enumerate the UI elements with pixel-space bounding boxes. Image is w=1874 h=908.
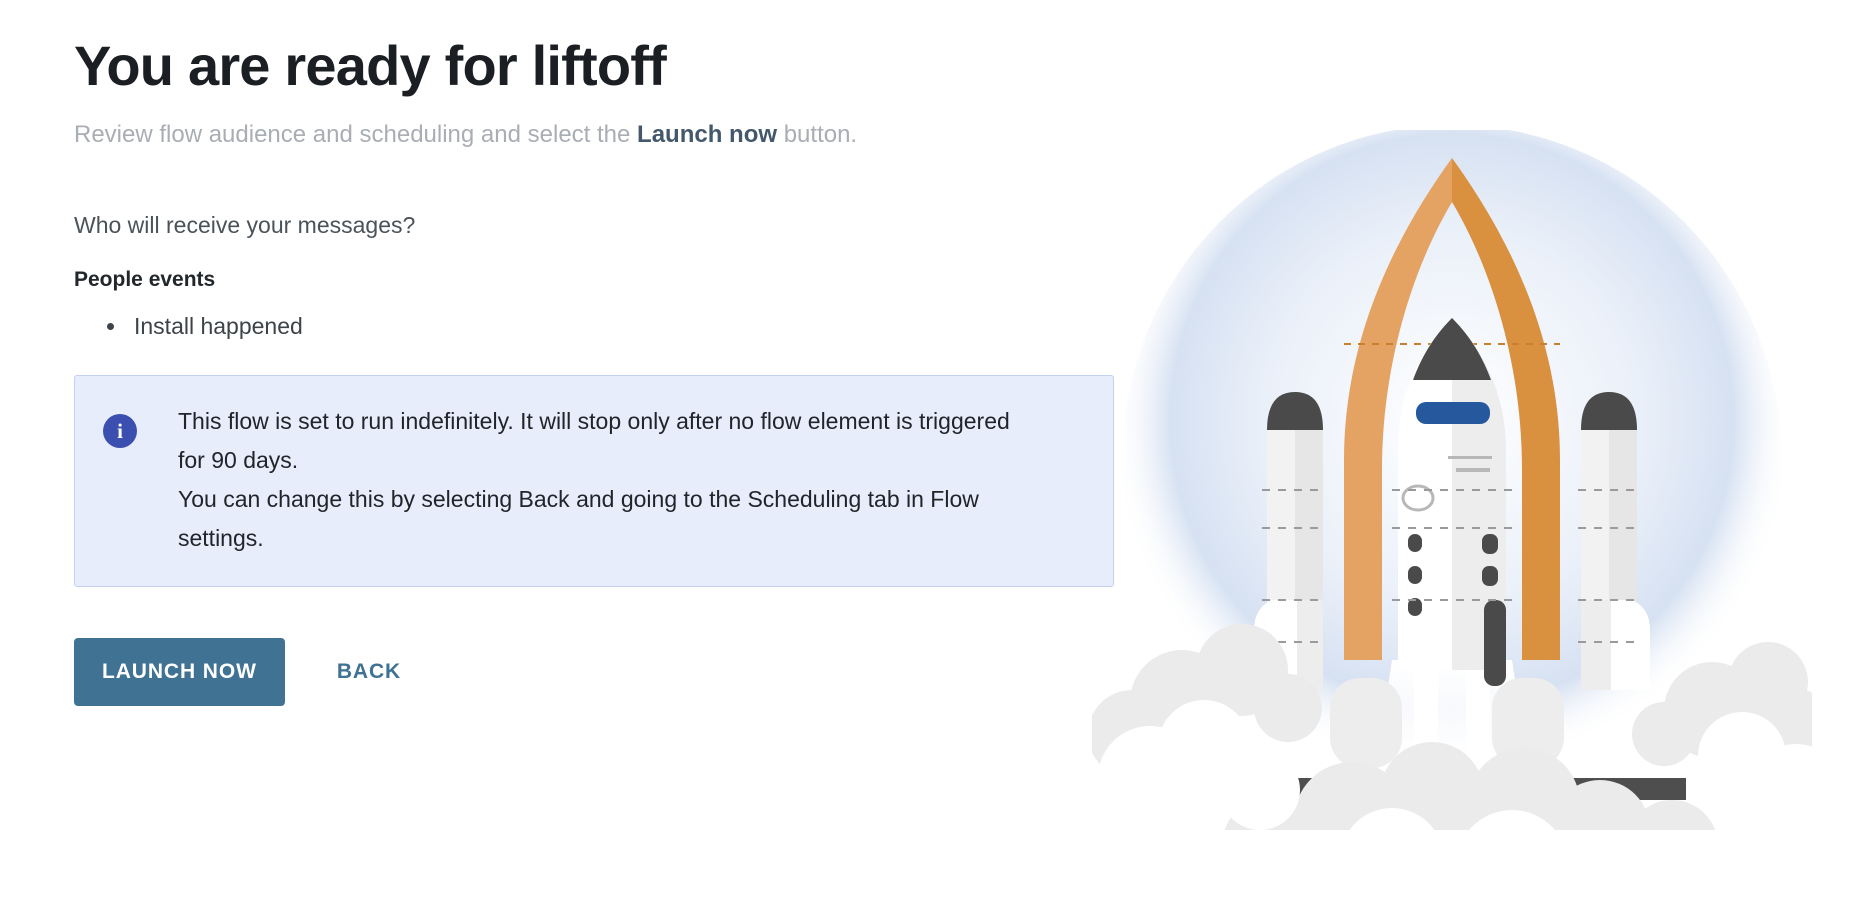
page-title: You are ready for liftoff — [74, 0, 1134, 98]
audience-question: Who will receive your messages? — [74, 150, 1134, 239]
subtitle-launch-now-emphasis: Launch now — [637, 121, 777, 148]
scheduling-info-callout: i This flow is set to run indefinitely. … — [74, 375, 1114, 587]
info-callout-text: This flow is set to run indefinitely. It… — [178, 402, 1018, 558]
action-bar: LAUNCH NOW BACK — [74, 638, 1134, 706]
subtitle-suffix: button. — [777, 121, 857, 148]
launch-now-button[interactable]: LAUNCH NOW — [74, 638, 285, 706]
info-callout-line-1: This flow is set to run indefinitely. It… — [178, 402, 1018, 480]
page-subtitle: Review flow audience and scheduling and … — [74, 98, 1134, 150]
audience-list: Install happened — [74, 293, 1134, 341]
subtitle-prefix: Review flow audience and scheduling and … — [74, 121, 637, 148]
audience-group-label: People events — [74, 239, 1134, 293]
info-callout-line-2: You can change this by selecting Back an… — [178, 480, 1018, 558]
back-button[interactable]: BACK — [319, 638, 419, 706]
content-column: You are ready for liftoff Review flow au… — [74, 0, 1134, 706]
liftoff-review-page: You are ready for liftoff Review flow au… — [0, 0, 1874, 908]
list-item: Install happened — [134, 311, 1134, 341]
rocket-launch-illustration — [1092, 130, 1812, 870]
info-icon: i — [103, 414, 137, 448]
aft-thruster — [1484, 600, 1506, 686]
cockpit-window — [1416, 402, 1490, 424]
